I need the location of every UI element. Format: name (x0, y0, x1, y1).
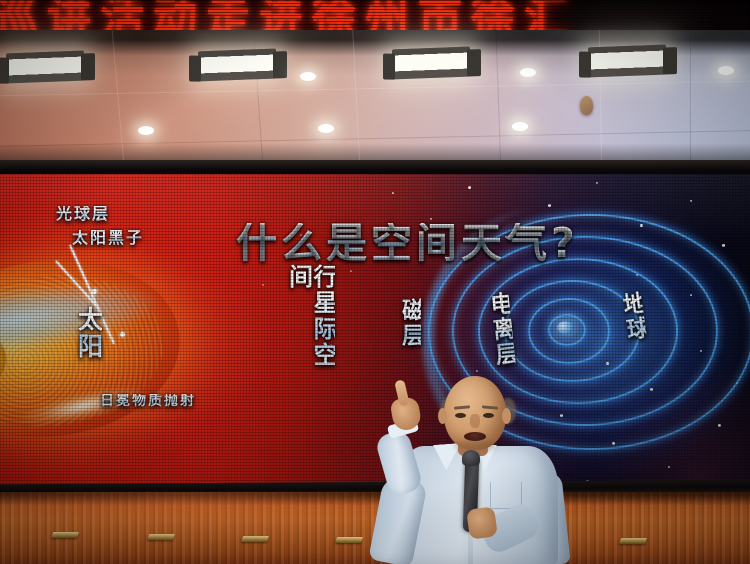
earth-globe (557, 321, 574, 334)
leader-dot-sunspot (120, 332, 125, 337)
floor-outlet-plate (335, 537, 363, 543)
down-light (318, 124, 334, 133)
star (392, 192, 394, 194)
speaker-ear-right (502, 408, 511, 424)
label-interplanetary-space: 行星际空间 (286, 264, 335, 390)
ceiling-wall (0, 30, 750, 175)
speaker-ear-left (438, 408, 447, 424)
label-photosphere: 光球层 (56, 206, 110, 222)
wall-seam (690, 30, 691, 175)
down-light (718, 66, 734, 75)
led-ticker-banner: 巡讲活动走进徐州市徐汇 (0, 0, 750, 34)
wall-seam (495, 30, 501, 175)
star (668, 466, 670, 468)
wall-speaker-box (580, 96, 593, 115)
star (350, 270, 352, 272)
slide-title: 什么是空间天气? (236, 223, 579, 264)
wall-seam (352, 30, 361, 175)
microphone-head (462, 450, 480, 466)
star (548, 204, 551, 207)
star (468, 186, 471, 189)
wall-seam (112, 30, 126, 175)
star (690, 200, 692, 202)
down-light (138, 126, 154, 135)
label-sun: 太阳 (76, 306, 102, 366)
label-sunspot: 太阳黑子 (72, 230, 144, 246)
speaker-eye-left (455, 413, 466, 418)
wall-seam (0, 81, 750, 96)
floor-outlet-plate (241, 536, 269, 542)
speaker-eye-right (483, 413, 494, 418)
down-light (520, 68, 536, 77)
label-magnetosphere: 磁层 (398, 298, 421, 362)
star (596, 182, 598, 184)
sun-illustration (0, 242, 222, 462)
down-light (512, 122, 528, 131)
speaker-left-hand (466, 506, 498, 540)
floor-outlet-plate (147, 534, 175, 540)
star (262, 284, 264, 286)
flood-light (392, 47, 470, 80)
label-cme: 日冕物质抛射 (100, 394, 196, 408)
screenshot-root: 巡讲活动走进徐州市徐汇 (0, 0, 750, 564)
flood-light (198, 49, 276, 82)
down-light (300, 72, 316, 81)
led-ticker-text: 巡讲活动走进徐州市徐汇 (0, 0, 577, 34)
floor-outlet-plate (619, 538, 647, 544)
floor-outlet-plate (51, 532, 79, 538)
speaker-nose (470, 414, 480, 428)
flood-light (588, 45, 666, 78)
wall-seam (0, 130, 750, 147)
speaker-person (372, 370, 582, 564)
flood-light (6, 51, 84, 84)
